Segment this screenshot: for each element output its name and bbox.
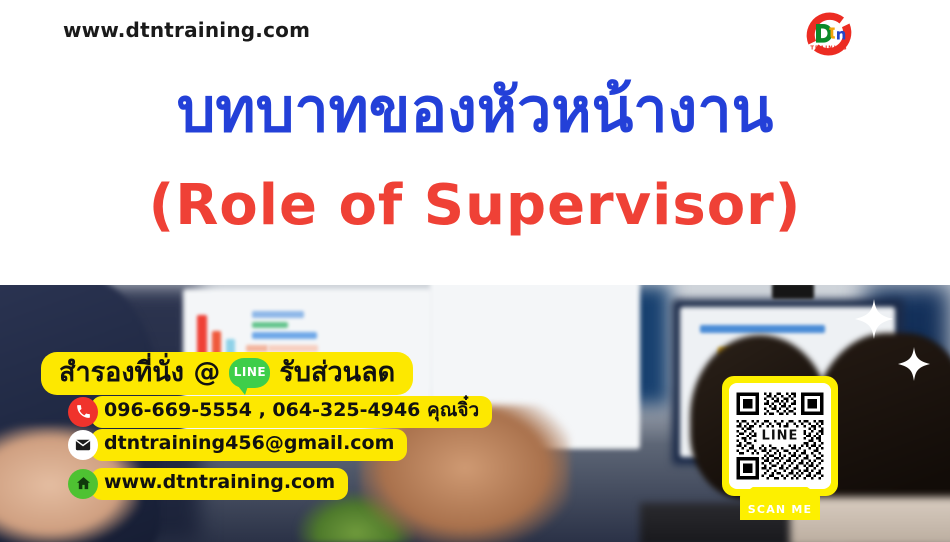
photo-ui-bar	[772, 285, 814, 299]
dtn-training-logo: TRAINING	[800, 8, 858, 60]
sparkle-icon	[898, 347, 930, 381]
phone-number-text: 096-669-5554 , 064-325-4946 คุณจิ๋ว	[91, 396, 492, 428]
photo-ui-bar	[700, 325, 825, 333]
page-title-thai: บทบาทของหัวหน้างาน	[0, 76, 950, 146]
poster-header: www.dtntraining.com TRAINING บทบาทของหัว…	[0, 0, 950, 285]
site-url-text: www.dtntraining.com	[63, 18, 310, 42]
promo-poster: www.dtntraining.com TRAINING บทบาทของหัว…	[0, 0, 950, 542]
home-icon	[68, 469, 98, 499]
email-text: dtntraining456@gmail.com	[91, 429, 407, 461]
photo-chart-bar	[252, 322, 288, 328]
photo-chart-bar	[252, 332, 317, 339]
photo-chart-bar	[252, 311, 304, 318]
qr-code-image: LINE	[729, 383, 831, 489]
contact-row-phone[interactable]: 096-669-5554 , 064-325-4946 คุณจิ๋ว	[68, 396, 492, 428]
banner-text-after: รับส่วนลด	[279, 357, 395, 388]
svg-text:TRAINING: TRAINING	[810, 46, 847, 52]
line-badge-icon[interactable]: LINE	[229, 358, 270, 388]
banner-text-before: สำรองที่นั่ง @	[59, 357, 220, 388]
phone-icon	[68, 397, 98, 427]
line-badge-label: LINE	[234, 366, 266, 380]
page-title-english: (Role of Supervisor)	[0, 174, 950, 238]
contact-row-website[interactable]: www.dtntraining.com	[68, 468, 348, 500]
photo-chart-bar	[246, 345, 268, 352]
photo-chart-bar	[268, 345, 318, 352]
website-text: www.dtntraining.com	[91, 468, 348, 500]
qr-center-label: LINE	[757, 428, 804, 445]
line-qr-code[interactable]: LINE	[722, 376, 838, 496]
email-icon	[68, 430, 98, 460]
scan-me-ribbon: SCAN ME	[740, 487, 820, 520]
reserve-seat-banner: สำรองที่นั่ง @ LINE รับส่วนลด	[41, 352, 413, 395]
scan-me-label: SCAN ME	[748, 503, 812, 516]
sparkle-icon	[855, 299, 893, 339]
contact-row-email[interactable]: dtntraining456@gmail.com	[68, 429, 407, 461]
